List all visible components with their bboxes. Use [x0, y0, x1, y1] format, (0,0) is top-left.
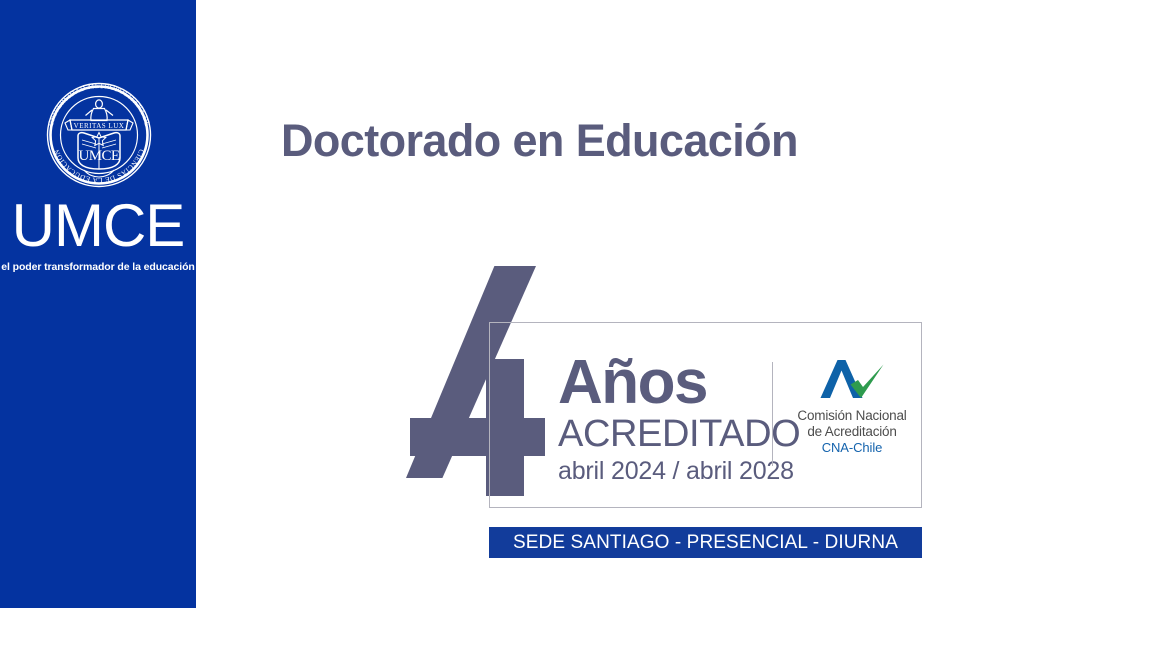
- umce-wordmark-text: UMCE: [0, 196, 196, 256]
- umce-wordmark: UMCE el poder transformador de la educac…: [0, 196, 196, 274]
- sede-banner: SEDE SANTIAGO - PRESENCIAL - DIURNA: [489, 527, 922, 558]
- page-title: Doctorado en Educación: [281, 113, 798, 169]
- slide-canvas: UNIVERSIDAD METROPOLITANA DE CIENCIAS DE…: [0, 0, 1152, 648]
- badge-vertical-divider: [772, 362, 773, 466]
- badge-text-block: Años ACREDITADO abril 2024 / abril 2028: [558, 352, 798, 488]
- cna-chile-logo-block: Comisión Nacional de Acreditación CNA-Ch…: [782, 358, 922, 456]
- years-label: Años: [558, 352, 798, 414]
- svg-text:VERITAS LUX: VERITAS LUX: [74, 122, 125, 130]
- cna-chile-label: CNA-Chile: [782, 440, 922, 456]
- umce-tagline: el poder transformador de la educación: [0, 260, 196, 274]
- accreditation-period: abril 2024 / abril 2028: [558, 454, 798, 488]
- cna-chile-logo-mark-icon: [817, 358, 887, 406]
- cna-name-line-2: de Acreditación: [782, 424, 922, 440]
- svg-text:UMCE: UMCE: [79, 148, 120, 164]
- sidebar-brand-panel: UNIVERSIDAD METROPOLITANA DE CIENCIAS DE…: [0, 0, 196, 608]
- umce-university-seal-icon: UNIVERSIDAD METROPOLITANA DE CIENCIAS DE…: [38, 74, 160, 196]
- accreditation-status: ACREDITADO: [558, 414, 798, 454]
- accreditation-badge: 4 Años ACREDITADO abril 2024 / abril 202…: [410, 266, 925, 561]
- cna-name-line-1: Comisión Nacional: [782, 408, 922, 424]
